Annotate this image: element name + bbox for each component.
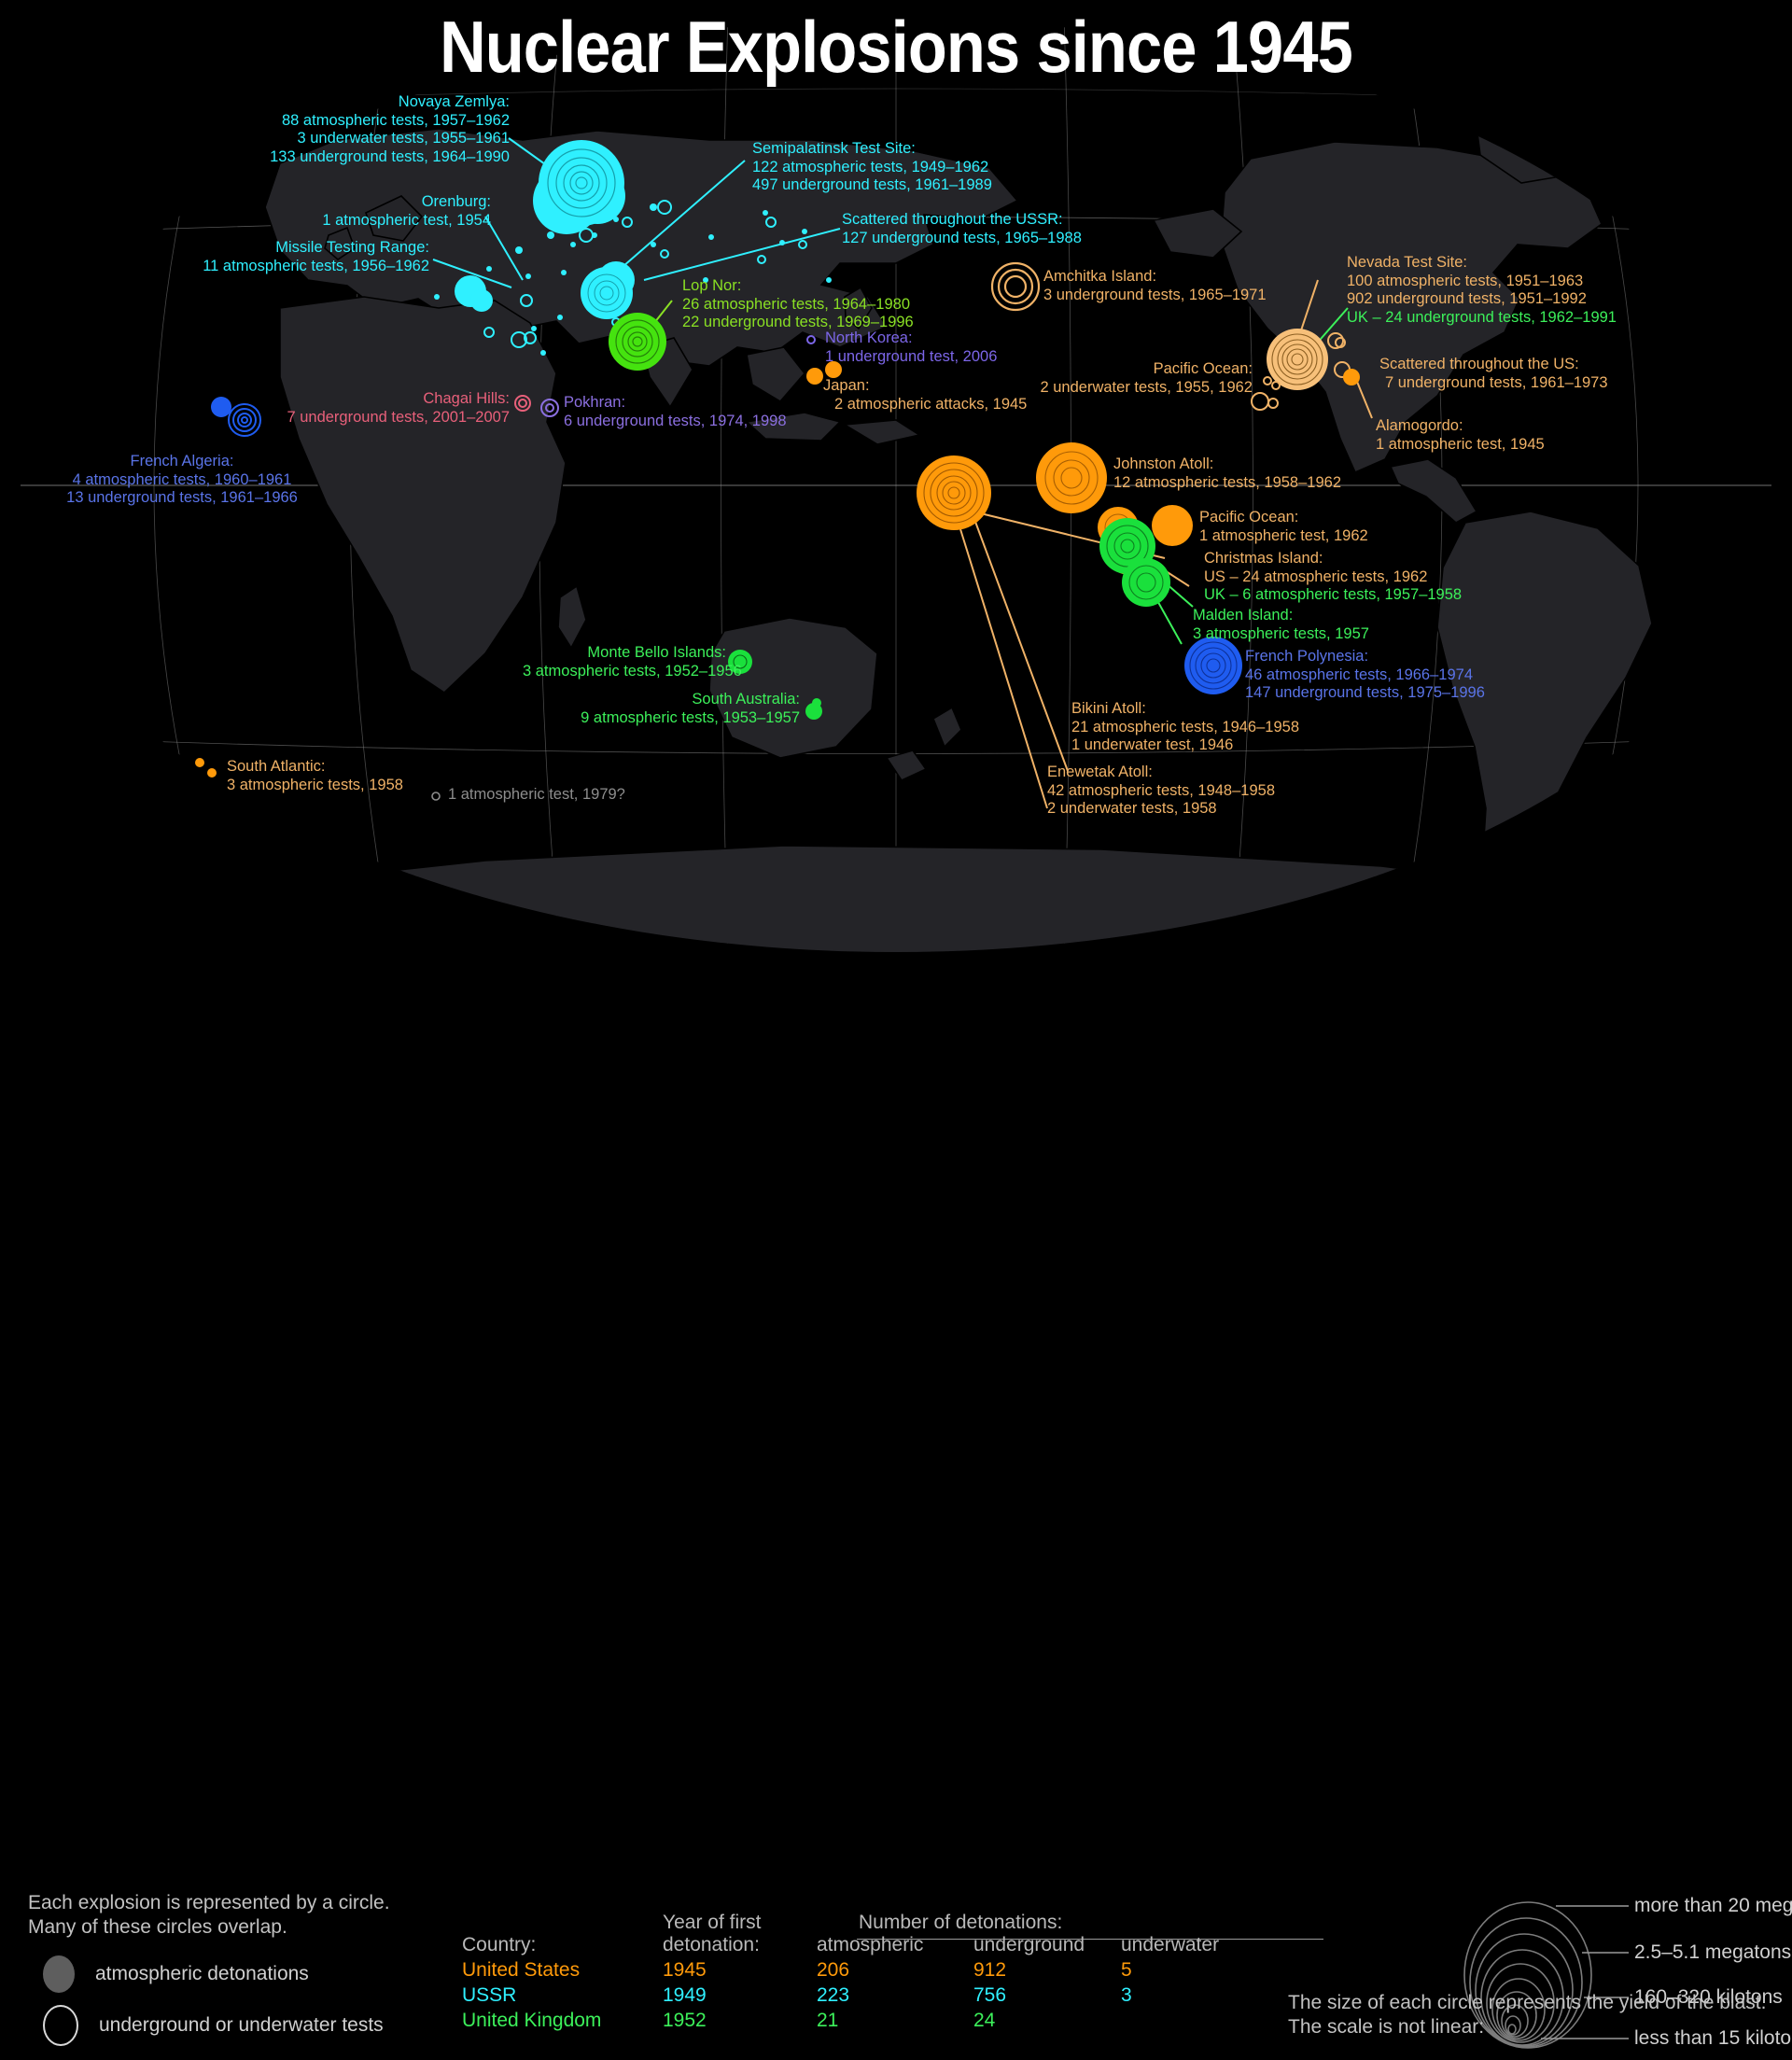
row-underground: 756 [973, 1984, 1121, 2010]
yield-label-1: more than 20 megatons [1634, 1895, 1792, 1917]
label-novaya-zemlya: Novaya Zemlya: 88 atmospheric tests, 195… [220, 93, 510, 166]
circle-malden-island [1122, 558, 1170, 607]
row-atmospheric: 206 [817, 1959, 973, 1984]
row-underwater: 3 [1121, 1984, 1252, 2010]
row-underground: 912 [973, 1959, 1121, 1984]
page-title: Nuclear Explosions since 1945 [107, 6, 1685, 88]
header-underground: underground [973, 1912, 1121, 1959]
label-monte-bello-islands: Monte Bello Islands: 3 atmospheric tests… [523, 644, 726, 680]
row-atmospheric: 21 [817, 2010, 973, 2035]
label-johnston-atoll: Johnston Atoll: 12 atmospheric tests, 19… [1113, 455, 1341, 492]
circle-lop-nor [609, 313, 666, 371]
row-country: United States [462, 1959, 663, 1984]
row-underwater: 5 [1121, 1959, 1252, 1984]
circle-bikini-atoll [1036, 442, 1107, 513]
label-bikini-atoll: Bikini Atoll: 21 atmospheric tests, 1946… [1071, 700, 1299, 755]
legend-atmospheric-label: atmospheric detonations [95, 1963, 309, 1985]
label-french-algeria: French Algeria: 4 atmospheric tests, 196… [28, 453, 336, 508]
label-christmas-island: Christmas Island: US – 24 atmospheric te… [1204, 550, 1462, 605]
table-row: United Kingdom 1952 21 24 [462, 2010, 1252, 2035]
row-atmospheric: 223 [817, 1984, 973, 2010]
label-pokhran: Pokhran: 6 underground tests, 1974, 1998 [564, 394, 787, 430]
label-pacific-ocean-atmospheric: Pacific Ocean: 1 atmospheric test, 1962 [1199, 509, 1368, 545]
label-south-australia: South Australia: 9 atmospheric tests, 19… [579, 691, 800, 727]
label-orenburg: Orenburg: 1 atmospheric test, 1954 [183, 193, 491, 230]
label-missile-testing-range: Missile Testing Range: 11 atmospheric te… [121, 239, 429, 275]
row-year: 1945 [663, 1959, 817, 1984]
bottom-legend-panel: Each explosion is represented by a circl… [0, 933, 1792, 1120]
circle-enewetak-atoll [917, 455, 991, 530]
table-row: USSR 1949 223 756 3 [462, 1984, 1252, 2010]
legend-underground: underground or underwater tests [43, 2005, 384, 2046]
yield-label-2: 2.5–5.1 megatons [1634, 1941, 1791, 1964]
filled-circle-icon [43, 1955, 75, 1993]
label-chagai-hills: Chagai Hills: 7 underground tests, 2001–… [250, 390, 510, 427]
yield-scale-note: The size of each circle represents the y… [1288, 1991, 1766, 2039]
header-atmospheric: atmospheric [817, 1912, 973, 1959]
circle-alamogordo [1343, 369, 1360, 385]
label-malden-island: Malden Island: 3 atmospheric tests, 1957 [1193, 607, 1369, 643]
label-lop-nor: Lop Nor: 26 atmospheric tests, 1964–1980… [682, 277, 914, 332]
table-row: United States 1945 206 912 5 [462, 1959, 1252, 1984]
summary-table: Country: Year of first detonation: atmos… [462, 1912, 1252, 2035]
label-south-atlantic: South Atlantic: 3 atmospheric tests, 195… [227, 758, 403, 794]
row-country: USSR [462, 1984, 663, 2010]
row-year: 1949 [663, 1984, 817, 2010]
label-scattered-us: Scattered throughout the US: 7 undergrou… [1379, 356, 1608, 392]
legend-atmospheric: atmospheric detonations [43, 1955, 309, 1993]
row-underground: 24 [973, 2010, 1121, 2035]
row-year: 1952 [663, 2010, 817, 2035]
label-french-polynesia: French Polynesia: 46 atmospheric tests, … [1245, 648, 1485, 703]
circle-french-polynesia [1184, 637, 1242, 694]
header-underwater: underwater [1121, 1912, 1252, 1959]
label-scattered-ussr: Scattered throughout the USSR: 127 under… [842, 211, 1082, 247]
label-alamogordo: Alamogordo: 1 atmospheric test, 1945 [1376, 417, 1545, 454]
label-enewetak-atoll: Enewetak Atoll: 42 atmospheric tests, 19… [1047, 764, 1275, 819]
legend-underground-label: underground or underwater tests [99, 2014, 384, 2037]
label-amchitka-island: Amchitka Island: 3 underground tests, 19… [1043, 268, 1267, 304]
header-country: Country: [462, 1912, 663, 1959]
label-pacific-ocean-underwater: Pacific Ocean: 2 underwater tests, 1955,… [952, 360, 1253, 397]
row-country: United Kingdom [462, 2010, 663, 2035]
infographic-root: Nuclear Explosions since 1945 Novaya Zem… [0, 0, 1792, 1120]
header-year: Year of first detonation: [663, 1912, 817, 1959]
label-unknown-1979: 1 atmospheric test, 1979? [448, 786, 625, 805]
label-semipalatinsk: Semipalatinsk Test Site: 122 atmospheric… [752, 140, 992, 195]
label-nevada-test-site: Nevada Test Site: 100 atmospheric tests,… [1347, 254, 1617, 327]
circle-pacific-atmospheric [1152, 505, 1193, 546]
row-underwater [1121, 2010, 1252, 2035]
legend-explanation: Each explosion is represented by a circl… [28, 1891, 390, 1940]
table-header-row: Country: Year of first detonation: atmos… [462, 1912, 1252, 1959]
outline-circle-icon [43, 2005, 78, 2046]
